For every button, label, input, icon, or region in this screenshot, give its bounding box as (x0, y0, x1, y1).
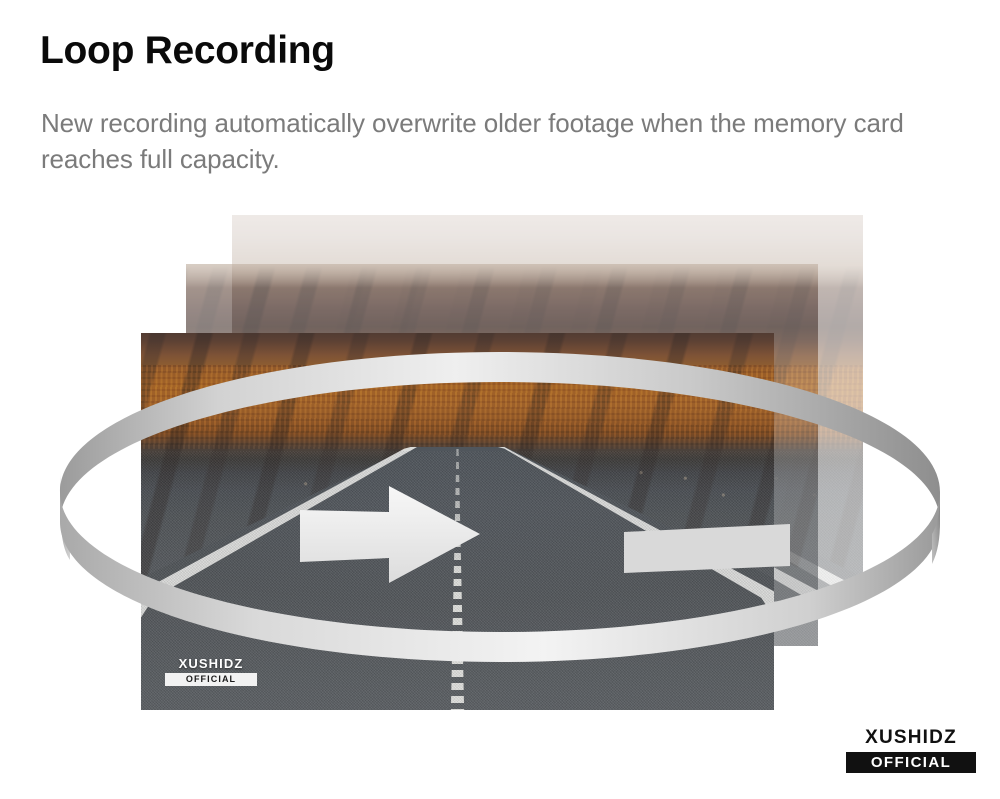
road-edge-line-left (141, 447, 774, 710)
slide-canvas: Loop Recording New recording automatical… (0, 0, 1000, 799)
road-edge-line-right (141, 447, 774, 710)
brand-logo: XUSHIDZ OFFICIAL (846, 727, 976, 773)
photo-stack: XUSHIDZ OFFICIAL (0, 0, 1000, 799)
road-photo-image (141, 333, 774, 710)
road-surface (141, 447, 774, 710)
road-centre-dashes (450, 449, 466, 710)
brand-logo-tag: OFFICIAL (846, 752, 976, 773)
brand-logo-name: XUSHIDZ (846, 727, 976, 749)
photo-layer-front: XUSHIDZ OFFICIAL (141, 333, 774, 710)
